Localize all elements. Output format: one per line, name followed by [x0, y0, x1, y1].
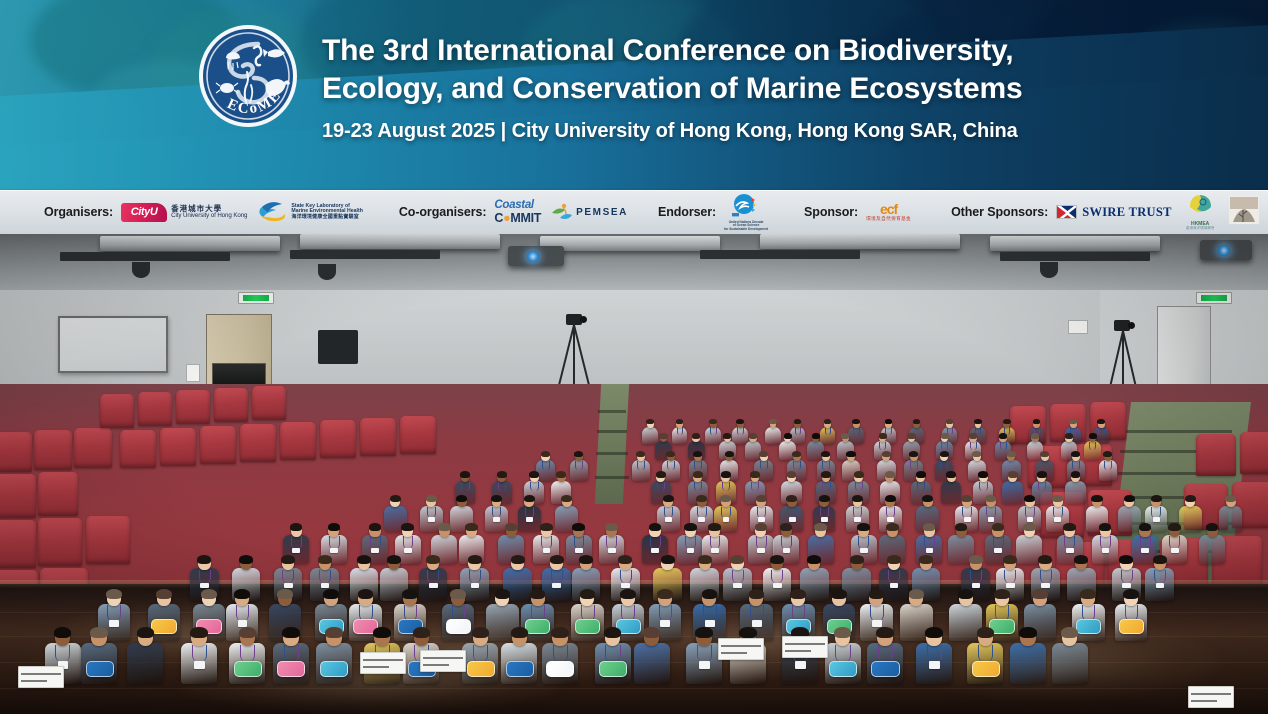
lanyard — [710, 536, 721, 548]
photo-prop-cutout — [871, 661, 899, 677]
hkmea-subtext: 香港海洋環境學會 — [1186, 227, 1215, 231]
seat — [74, 428, 112, 468]
attendee-hair — [277, 589, 293, 599]
lanyard — [941, 442, 948, 450]
attendee-hair — [698, 555, 712, 564]
name-badge — [929, 661, 940, 668]
lanyard — [1064, 536, 1075, 548]
name-badge — [821, 517, 828, 522]
partner-logo-sepia[interactable] — [1229, 196, 1259, 229]
lanyard — [551, 570, 563, 584]
name-badge — [429, 583, 438, 589]
attendee — [672, 420, 688, 445]
attendee-hair — [1071, 471, 1081, 477]
attendee — [967, 628, 1003, 687]
name-badge — [428, 517, 435, 522]
un-ocean-decade-logo[interactable]: United Nations Decade of Ocean Science f… — [724, 193, 768, 231]
conference-title-line-2: Ecology, and Conservation of Marine Ecos… — [322, 70, 1222, 108]
pemsea-logo[interactable]: PEMSEA — [551, 202, 628, 222]
name-badge — [109, 620, 119, 626]
attendee-hair — [426, 555, 440, 564]
lanyard — [107, 605, 121, 620]
attendee-hair — [659, 433, 667, 438]
ceiling-speaker — [1040, 262, 1058, 278]
lanyard — [986, 507, 996, 518]
attendee-hair — [54, 627, 72, 638]
attendee-hair — [328, 523, 341, 531]
attendee-hair — [604, 627, 622, 638]
lanyard — [236, 605, 250, 620]
skl-line-3: 海洋環境健康全國重點實驗室 — [291, 215, 363, 221]
attendee-hair — [946, 419, 954, 424]
commit-word-commit: C●MMIT — [494, 212, 541, 225]
attendee-hair — [723, 433, 731, 438]
attendee-hair — [786, 495, 797, 502]
swire-flag-icon — [1056, 205, 1077, 219]
seat — [1196, 434, 1236, 476]
attendee — [867, 628, 903, 687]
lanyard — [825, 427, 832, 434]
attendee — [1099, 452, 1118, 482]
ceiling-beam — [760, 234, 960, 249]
attendee-hair — [646, 419, 654, 424]
lanyard — [664, 507, 674, 518]
attendee-hair — [739, 627, 757, 638]
swire-trust-logo[interactable]: SWIRE TRUST — [1056, 205, 1172, 220]
attendee-hair — [978, 471, 988, 477]
ceiling-projector — [508, 246, 564, 266]
name-badge — [795, 661, 806, 668]
aisle-step — [598, 410, 626, 413]
endorser-label: Endorser: — [658, 205, 716, 219]
name-badge — [284, 583, 293, 589]
sponsor-group-organisers: Organisers: CityU 香港城市大學 City University… — [44, 190, 363, 234]
cityu-logo[interactable]: CityU 香港城市大學 City University of Hong Kon… — [121, 203, 247, 222]
name-badge — [752, 620, 762, 626]
name-badge — [964, 517, 971, 522]
attendee-hair — [769, 419, 777, 424]
attendee-hair — [994, 589, 1010, 599]
attendee-hair — [977, 627, 995, 638]
attendee-hair — [695, 627, 713, 638]
attendee-torso — [634, 643, 670, 684]
sponsor-group-co-organisers: Co-organisers: Coastal C●MMIT PEMSEA — [399, 190, 628, 234]
attendee-hair — [657, 589, 673, 599]
attendee-hair — [511, 627, 529, 638]
name-badge — [1041, 583, 1050, 589]
projector-lens-icon — [527, 251, 539, 262]
lanyard — [703, 605, 717, 620]
attendee-hair — [156, 589, 172, 599]
lanyard — [835, 645, 850, 662]
attendee — [501, 628, 537, 687]
attendee-hair — [794, 419, 802, 424]
un-ocean-wave-icon — [731, 193, 761, 217]
seat — [160, 428, 196, 466]
lanyard — [637, 461, 645, 470]
attendee-hair — [907, 433, 915, 438]
lanyard — [240, 645, 255, 662]
name-badge — [854, 517, 861, 522]
attendee-hair — [999, 433, 1007, 438]
attendee-hair — [450, 589, 466, 599]
attendee-hair — [857, 523, 870, 531]
ecf-chinese: 環境及自然保育基金 — [866, 217, 911, 222]
attendee-hair — [580, 589, 596, 599]
lanyard — [917, 482, 926, 492]
attendee-hair — [323, 589, 339, 599]
attendee-hair — [693, 471, 703, 477]
attendee-hair — [876, 627, 894, 638]
attendee-hair — [1032, 589, 1048, 599]
seat-nameplate — [782, 636, 828, 658]
state-key-lab-logo[interactable]: State Key Laboratory of Marine Environme… — [257, 199, 363, 225]
lanyard — [657, 482, 666, 492]
lanyard — [1151, 507, 1161, 518]
lanyard — [575, 461, 583, 470]
lanyard — [858, 536, 869, 548]
attendee-hair — [814, 523, 827, 531]
lanyard — [970, 570, 982, 584]
attendee-hair — [556, 471, 566, 477]
ceiling-beam — [540, 236, 720, 251]
attendee-hair — [643, 627, 661, 638]
attendee-hair — [750, 471, 760, 477]
attendee-hair — [1074, 555, 1088, 564]
attendee-hair — [909, 589, 925, 599]
attendee-hair — [693, 451, 702, 457]
attendee-hair — [472, 627, 490, 638]
attendee-hair — [749, 589, 765, 599]
ceiling-beam — [990, 236, 1160, 251]
attendee-hair — [869, 589, 885, 599]
attendee-hair — [1099, 523, 1112, 531]
attendee-hair — [684, 523, 697, 531]
attendee-hair — [755, 523, 768, 531]
attendee-hair — [885, 471, 895, 477]
lanyard — [910, 461, 918, 470]
lanyard — [697, 507, 707, 518]
seat — [120, 430, 156, 468]
attendee-hair — [661, 555, 675, 564]
attendee-hair — [605, 523, 618, 531]
attendee-hair — [1003, 419, 1011, 424]
name-badge — [1006, 583, 1015, 589]
photo-prop-cutout — [320, 661, 348, 677]
photo-prop-cutout — [829, 661, 857, 677]
photo-prop-cutout — [972, 661, 1000, 677]
ceiling-projector — [1200, 240, 1252, 260]
attendee-hair — [618, 555, 632, 564]
ceiling-rail — [60, 252, 230, 261]
hkmea-logo[interactable]: HKMEA 香港海洋環境學會 — [1186, 193, 1215, 231]
name-badge — [1027, 517, 1034, 522]
name-badge — [493, 517, 500, 522]
lanyard — [319, 570, 331, 584]
lanyard — [721, 507, 731, 518]
attendee-hair — [1103, 451, 1112, 457]
lanyard — [284, 645, 299, 662]
attendee — [1010, 628, 1046, 687]
lanyard — [685, 536, 696, 548]
attendee-hair — [1097, 419, 1105, 424]
attendee-hair — [922, 495, 933, 502]
seat — [214, 388, 248, 422]
conference-banner: ECoME The 3rd International Conference o… — [0, 0, 1268, 190]
ceiling-beam — [100, 236, 280, 251]
un-line-3: for Sustainable Development — [724, 227, 768, 231]
attendee-hair — [1019, 627, 1037, 638]
attendee-hair — [402, 589, 418, 599]
name-badge — [887, 517, 894, 522]
lanyard — [427, 570, 439, 584]
attendee-torso — [1010, 643, 1046, 684]
aisle-step — [1122, 430, 1232, 433]
skl-swirl-icon — [257, 199, 287, 225]
attendee-hair — [1151, 495, 1162, 502]
attendee-hair — [1071, 451, 1080, 457]
seat — [0, 520, 36, 568]
attendee-hair — [1091, 495, 1102, 502]
attendee-hair — [468, 555, 482, 564]
lanyard — [469, 570, 481, 584]
attendee-hair — [1119, 555, 1133, 564]
name-badge — [543, 548, 551, 553]
attendee-hair — [426, 495, 437, 502]
attendee-hair — [540, 523, 553, 531]
attendee — [127, 628, 163, 687]
lanyard — [771, 570, 783, 584]
lanyard — [461, 482, 470, 492]
attendee-hair — [759, 451, 768, 457]
lanyard — [1072, 461, 1080, 470]
photo-prop-cutout — [506, 661, 534, 677]
attendee-hair — [992, 523, 1005, 531]
lanyard — [820, 507, 830, 518]
ceiling-rail — [1000, 252, 1150, 261]
cityu-mark-text: CityU — [131, 206, 158, 218]
lanyard — [606, 536, 617, 548]
coastal-commit-logo[interactable]: Coastal C●MMIT — [494, 200, 541, 224]
seat — [86, 516, 130, 564]
attendee-hair — [190, 627, 208, 638]
attendee — [1115, 590, 1147, 643]
attendee-hair — [941, 433, 949, 438]
name-badge — [1153, 517, 1160, 522]
name-badge — [651, 548, 659, 553]
lanyard — [694, 461, 702, 470]
attendee-hair — [1206, 523, 1219, 531]
seat — [240, 424, 276, 462]
attendee — [462, 628, 498, 687]
name-badge — [621, 583, 630, 589]
seat — [200, 426, 236, 464]
attendee-hair — [841, 433, 849, 438]
attendee-hair — [882, 451, 891, 457]
ecome-logo: ECoME — [196, 22, 300, 130]
attendee-hair — [663, 495, 674, 502]
lanyard — [1089, 442, 1096, 450]
attendee — [181, 628, 217, 687]
attendee-hair — [708, 523, 721, 531]
attendee-hair — [1168, 523, 1181, 531]
pemsea-leaf-icon — [551, 202, 573, 222]
attendee-hair — [887, 555, 901, 564]
attendee-hair — [1065, 433, 1073, 438]
attendee-hair — [787, 471, 797, 477]
attendee — [1199, 524, 1225, 566]
attendee-hair — [923, 523, 936, 531]
lanyard — [879, 442, 886, 450]
attendee-hair — [318, 555, 332, 564]
name-badge — [687, 548, 695, 553]
photo-prop-cutout — [599, 661, 627, 677]
name-badge — [705, 620, 715, 626]
lanyard — [886, 507, 896, 518]
attendee-hair — [846, 451, 855, 457]
lanyard — [1169, 536, 1180, 548]
attendee-hair — [725, 451, 734, 457]
pemsea-text: PEMSEA — [576, 207, 628, 218]
lanyard — [473, 645, 488, 662]
attendee-hair — [784, 433, 792, 438]
seat — [320, 420, 356, 458]
attendee-hair — [850, 555, 864, 564]
attendee-hair — [780, 523, 793, 531]
photo-prop-cutout — [277, 661, 305, 677]
name-badge — [1171, 548, 1179, 553]
conference-subtitle: 19-23 August 2025 | City University of H… — [322, 120, 1222, 143]
attendee-hair — [401, 523, 414, 531]
lanyard — [1154, 570, 1166, 584]
attendee-hair — [281, 555, 295, 564]
exit-sign — [1196, 292, 1232, 304]
seat — [138, 392, 172, 426]
attendee-hair — [919, 555, 933, 564]
conference-title-line-1: The 3rd International Conference on Biod… — [322, 32, 1222, 70]
name-badge — [575, 548, 583, 553]
attendee-hair — [721, 471, 731, 477]
name-badge — [926, 548, 934, 553]
name-badge — [404, 548, 412, 553]
attendee-torso — [1052, 643, 1088, 684]
lanyard — [620, 570, 632, 584]
photo-prop-cutout — [467, 661, 495, 677]
attendee-hair — [505, 523, 518, 531]
lanyard — [525, 507, 535, 518]
name-badge — [890, 583, 899, 589]
name-badge — [194, 661, 205, 668]
attendee-hair — [1069, 419, 1077, 424]
name-badge — [665, 517, 672, 522]
seat — [400, 416, 436, 454]
name-badge — [994, 548, 1002, 553]
attendee-hair — [1124, 495, 1135, 502]
attendee-hair — [656, 471, 666, 477]
lanyard — [924, 536, 935, 548]
attendee-hair — [1139, 523, 1152, 531]
attendee-hair — [1185, 495, 1196, 502]
attendee-hair — [969, 433, 977, 438]
sponsor-group-endorser: Endorser: United Nations Decade of Ocean… — [658, 190, 768, 234]
exit-sign — [238, 292, 274, 304]
lanyard — [492, 507, 502, 518]
aisle-step — [597, 430, 627, 433]
attendee-hair — [413, 627, 431, 638]
lanyard — [1100, 536, 1111, 548]
attendee-hair — [561, 495, 572, 502]
attendee-hair — [495, 589, 511, 599]
lanyard — [732, 570, 744, 584]
attendee-hair — [620, 589, 636, 599]
lanyard — [710, 427, 717, 434]
attendee-hair — [460, 471, 470, 477]
lanyard — [199, 570, 211, 584]
lanyard — [659, 605, 673, 620]
name-badge — [711, 548, 719, 553]
attendee-hair — [974, 419, 982, 424]
name-badge — [773, 583, 782, 589]
ceiling-rail — [700, 250, 860, 259]
lanyard — [282, 570, 294, 584]
attendee-hair — [812, 433, 820, 438]
name-badge — [238, 620, 248, 626]
attendee-hair — [1008, 471, 1018, 477]
seat — [0, 432, 32, 472]
name-badge — [733, 583, 742, 589]
sponsor-label: Sponsor: — [804, 205, 858, 219]
ceiling-rail — [290, 250, 440, 259]
banner-title-block: The 3rd International Conference on Biod… — [322, 32, 1222, 143]
attendee-hair — [666, 451, 675, 457]
attendee-hair — [106, 589, 122, 599]
attendee — [273, 628, 309, 687]
ceiling-beam — [300, 234, 500, 249]
seat — [100, 394, 134, 428]
lanyard — [1104, 461, 1112, 470]
name-badge — [200, 583, 209, 589]
photo-prop-cutout — [86, 661, 114, 677]
lanyard — [1038, 482, 1047, 492]
name-badge — [471, 583, 480, 589]
lanyard — [787, 507, 797, 518]
name-badge — [860, 548, 868, 553]
attendee-hair — [579, 555, 593, 564]
photo-prop-cutout — [234, 661, 262, 677]
attendee-hair — [550, 555, 564, 564]
seat — [176, 390, 210, 424]
attendee-hair — [736, 419, 744, 424]
attendee-hair — [511, 555, 525, 564]
door-window — [212, 363, 266, 385]
attendee-hair — [756, 495, 767, 502]
name-badge — [1122, 583, 1131, 589]
attendee-hair — [834, 627, 852, 638]
attendee-hair — [649, 523, 662, 531]
attendee-hair — [1033, 419, 1041, 424]
attendee-hair — [709, 419, 717, 424]
attendee-hair — [1038, 555, 1052, 564]
attendee-hair — [1080, 589, 1096, 599]
attendee-hair — [201, 589, 217, 599]
attendee-hair — [574, 451, 583, 457]
lanyard — [737, 427, 744, 434]
ecf-logo[interactable]: ecf 環境及自然保育基金 — [866, 202, 911, 222]
attendee-hair — [1225, 495, 1236, 502]
other-sponsors-label: Other Sponsors: — [951, 205, 1048, 219]
attendee-hair — [852, 419, 860, 424]
lanyard — [822, 482, 831, 492]
